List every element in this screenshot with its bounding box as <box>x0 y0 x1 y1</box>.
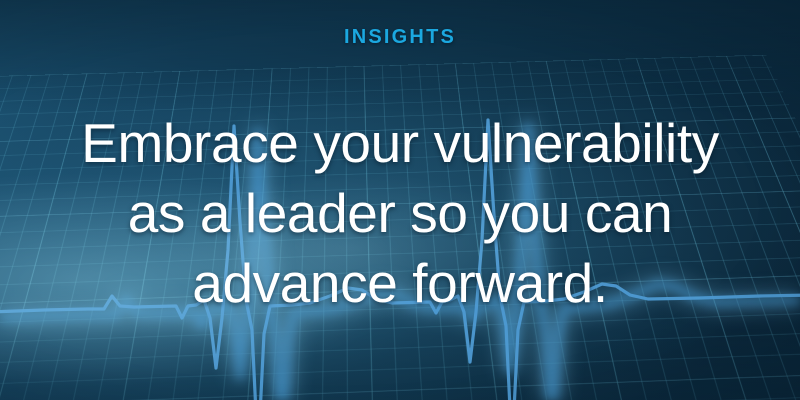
headline-line-1: Embrace your vulnerability <box>38 108 762 178</box>
headline: Embrace your vulnerability as a leader s… <box>0 108 800 318</box>
card-content: INSIGHTS Embrace your vulnerability as a… <box>0 0 800 400</box>
headline-line-2: as a leader so you can <box>38 178 762 248</box>
insights-quote-card: INSIGHTS Embrace your vulnerability as a… <box>0 0 800 400</box>
headline-line-3: advance forward. <box>38 248 762 318</box>
eyebrow-label: INSIGHTS <box>0 26 800 49</box>
